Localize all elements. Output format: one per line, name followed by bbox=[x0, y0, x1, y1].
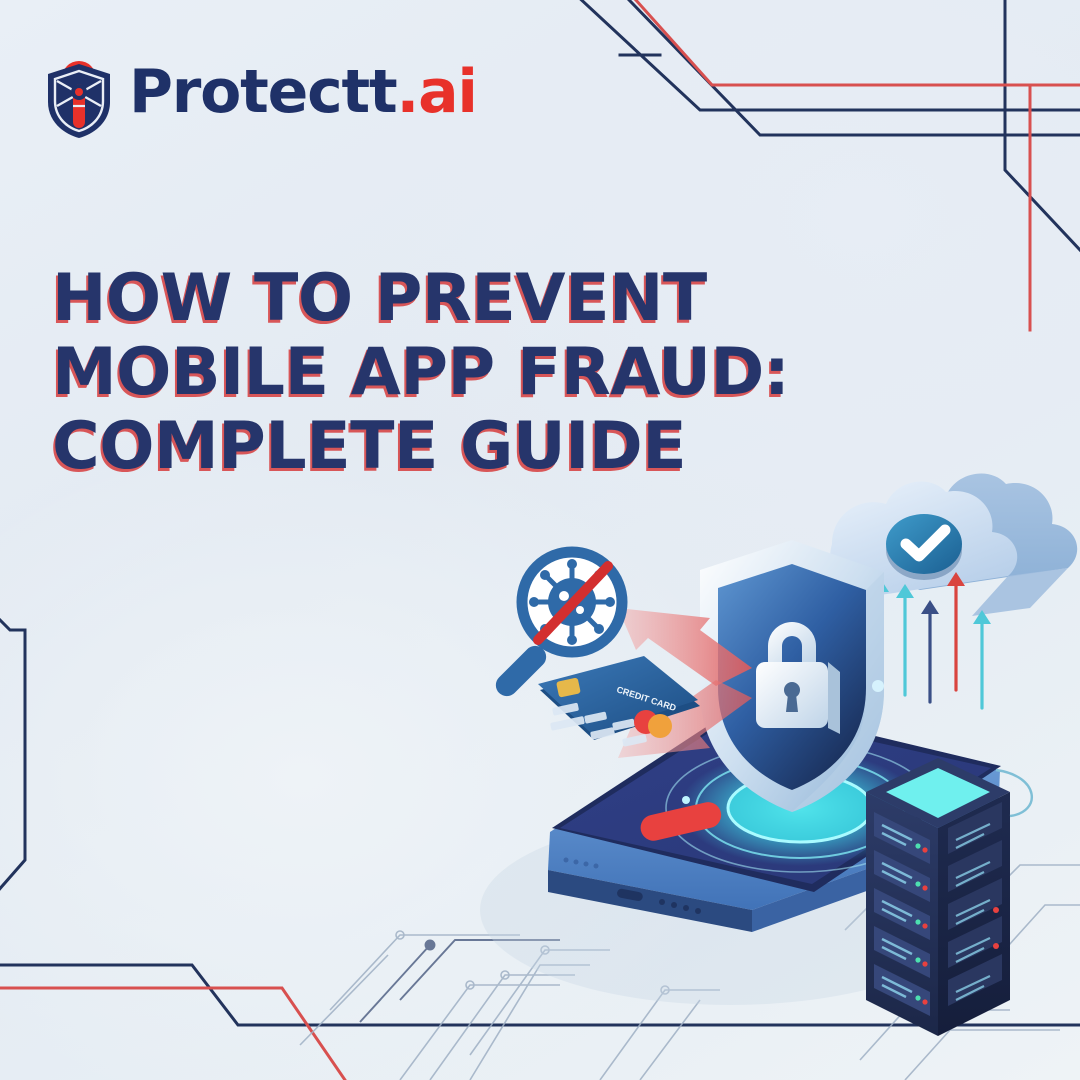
server-rack[interactable] bbox=[866, 758, 1032, 1036]
wordmark-primary: Protectt bbox=[129, 57, 397, 127]
wordmark-accent: .ai bbox=[397, 57, 477, 127]
security-illustration: CREDIT CARD bbox=[400, 440, 1080, 1080]
shield-padlock-logo-icon bbox=[42, 44, 116, 140]
trace-navy-group bbox=[560, 0, 1080, 250]
poster-canvas: Protectt.ai HOW TO PREVENT MOBILE APP FR… bbox=[0, 0, 1080, 1080]
title-line-2: MOBILE APP FRAUD: bbox=[52, 336, 752, 410]
title-line-1: HOW TO PREVENT bbox=[52, 262, 752, 336]
brand-logo[interactable]: Protectt.ai bbox=[42, 44, 477, 140]
cloud-check-badge bbox=[886, 514, 962, 580]
brand-wordmark: Protectt.ai bbox=[129, 62, 477, 122]
magnifier-handle bbox=[491, 641, 550, 700]
